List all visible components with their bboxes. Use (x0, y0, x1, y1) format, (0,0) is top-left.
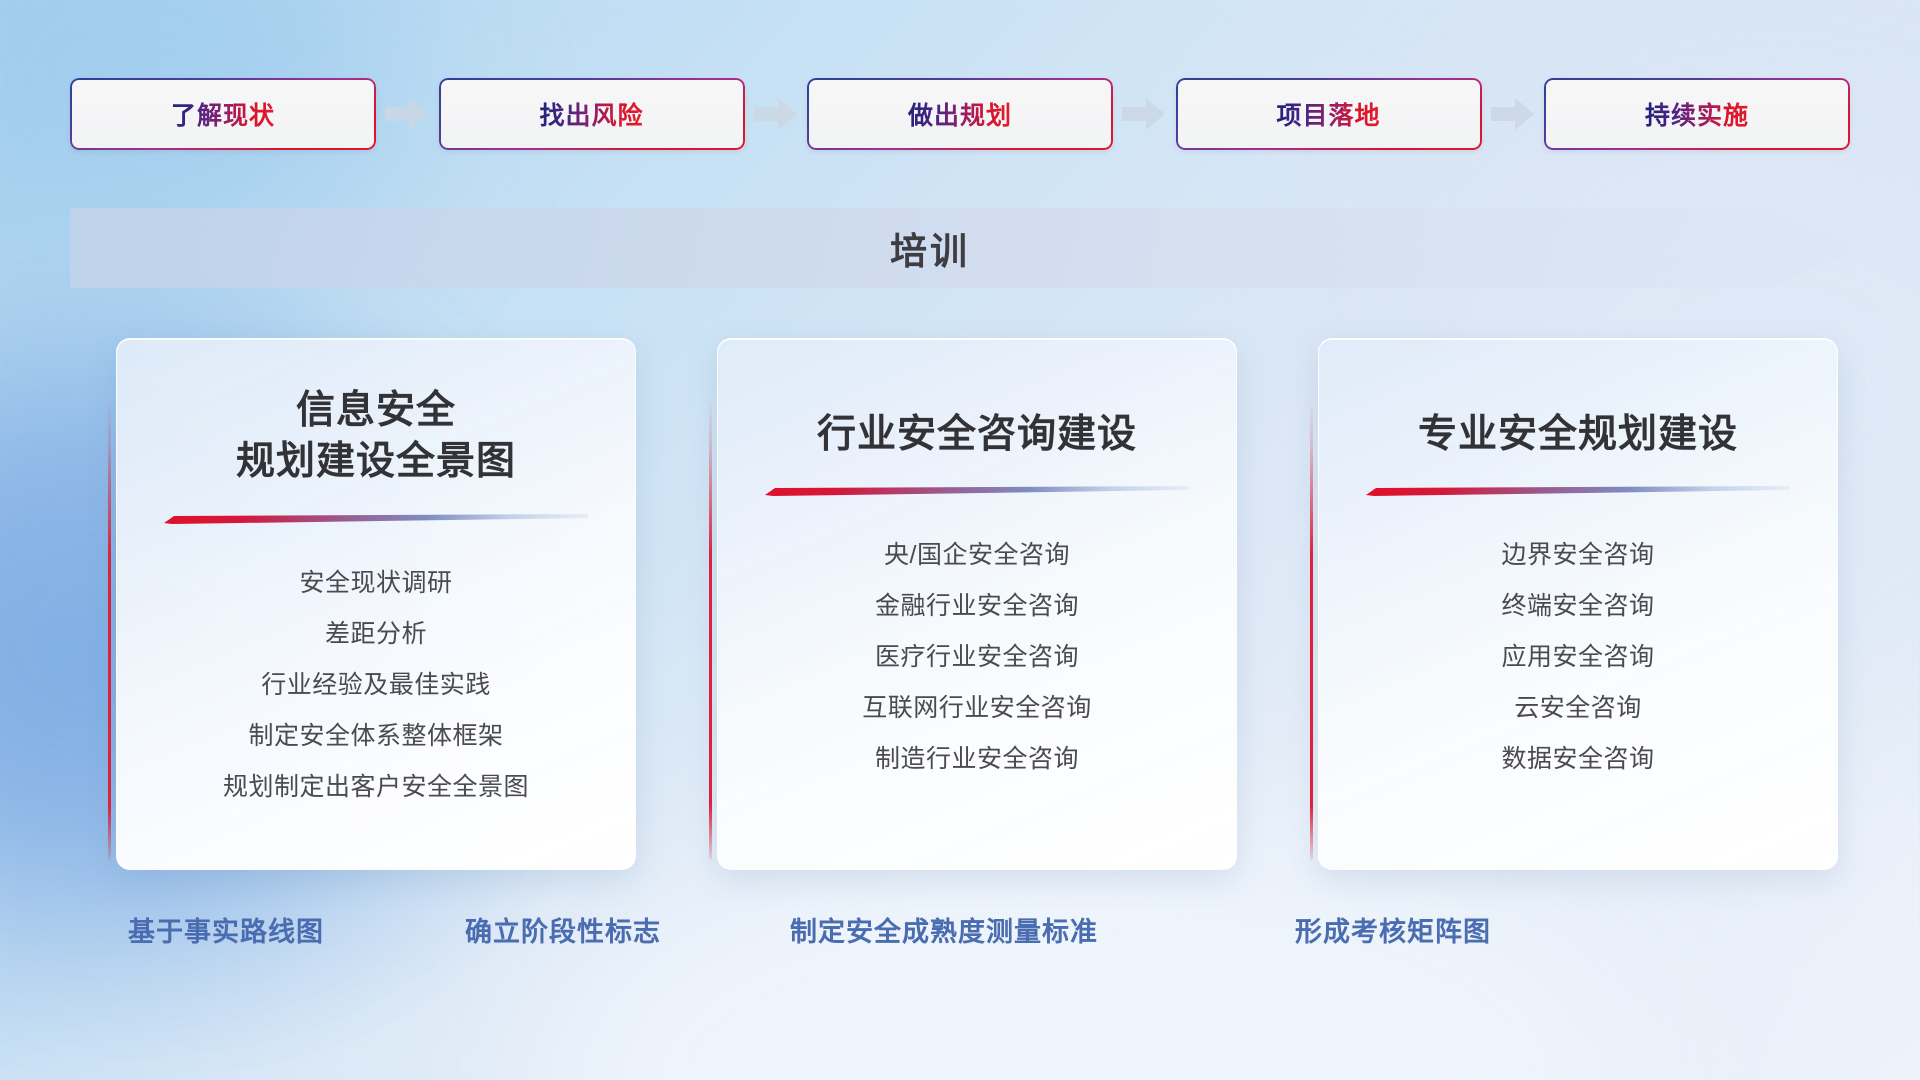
process-step-2-label: 找出风险 (539, 96, 643, 132)
card-1-list-item-1: 安全现状调研 (299, 558, 452, 609)
card-row: 信息安全 规划建设全景图 (108, 338, 1838, 878)
card-3-list: 边界安全咨询 终端安全咨询 应用安全咨询 云安全咨询 数据安全咨询 (1319, 530, 1837, 785)
card-3-list-item-5: 数据安全咨询 (1501, 734, 1654, 785)
card-1-red-accent (108, 400, 111, 860)
outcome-label-4: 形成考核矩阵图 (1295, 910, 1491, 949)
card-2-list-item-2: 金融行业安全咨询 (875, 581, 1079, 632)
card-2-list-item-4: 互联网行业安全咨询 (862, 683, 1092, 734)
card-3[interactable]: 专业安全规划建设 (1310, 338, 1838, 878)
card-2-divider (765, 486, 1189, 496)
outcome-label-1: 基于事实路线图 (128, 910, 324, 949)
outcome-label-2: 确立阶段性标志 (465, 910, 661, 949)
process-step-4-label: 项目落地 (1276, 96, 1380, 132)
card-2-red-accent (709, 400, 712, 860)
card-3-list-item-3: 应用安全咨询 (1501, 632, 1654, 683)
training-banner-label: 培训 (70, 208, 1790, 288)
step-arrow-icon (754, 97, 798, 131)
process-step-5[interactable]: 持续实施 (1544, 78, 1850, 150)
card-1-list-item-4: 制定安全体系整体框架 (248, 711, 503, 762)
process-step-1-label: 了解现状 (171, 96, 275, 132)
card-2-list-item-3: 医疗行业安全咨询 (875, 632, 1079, 683)
card-3-divider (1366, 486, 1790, 496)
card-2-list: 央/国企安全咨询 金融行业安全咨询 医疗行业安全咨询 互联网行业安全咨询 制造行… (718, 530, 1236, 785)
card-2-title: 行业安全咨询建设 (718, 409, 1236, 460)
process-step-1[interactable]: 了解现状 (70, 78, 376, 150)
card-1-list: 安全现状调研 差距分析 行业经验及最佳实践 制定安全体系整体框架 规划制定出客户… (117, 558, 635, 813)
card-3-list-item-4: 云安全咨询 (1514, 683, 1642, 734)
outcome-label-row: 基于事实路线图 确立阶段性标志 制定安全成熟度测量标准 形成考核矩阵图 (0, 910, 1920, 960)
card-1-divider (164, 514, 588, 524)
step-arrow-icon (1122, 97, 1166, 131)
process-step-3-label: 做出规划 (908, 96, 1012, 132)
card-2-list-item-5: 制造行业安全咨询 (875, 734, 1079, 785)
card-3-list-item-2: 终端安全咨询 (1501, 581, 1654, 632)
process-step-row: 了解现状 找出风险 做出规划 项目落地 持续实施 (70, 78, 1850, 150)
card-1-title: 信息安全 规划建设全景图 (117, 385, 635, 488)
process-step-5-label: 持续实施 (1645, 96, 1749, 132)
card-1-list-item-5: 规划制定出客户安全全景图 (223, 762, 529, 813)
step-arrow-icon (385, 97, 429, 131)
card-3-title: 专业安全规划建设 (1319, 409, 1837, 460)
process-step-2[interactable]: 找出风险 (439, 78, 745, 150)
process-step-4[interactable]: 项目落地 (1176, 78, 1482, 150)
process-step-3[interactable]: 做出规划 (807, 78, 1113, 150)
card-2[interactable]: 行业安全咨询建设 (709, 338, 1237, 878)
card-1[interactable]: 信息安全 规划建设全景图 (108, 338, 636, 878)
card-1-list-item-2: 差距分析 (325, 609, 427, 660)
outcome-label-3: 制定安全成熟度测量标准 (790, 910, 1098, 949)
step-arrow-icon (1491, 97, 1535, 131)
training-banner: 培训 (70, 208, 1860, 288)
card-3-list-item-1: 边界安全咨询 (1501, 530, 1654, 581)
card-1-list-item-3: 行业经验及最佳实践 (261, 660, 491, 711)
card-3-red-accent (1310, 400, 1313, 860)
card-2-list-item-1: 央/国企安全咨询 (884, 530, 1070, 581)
